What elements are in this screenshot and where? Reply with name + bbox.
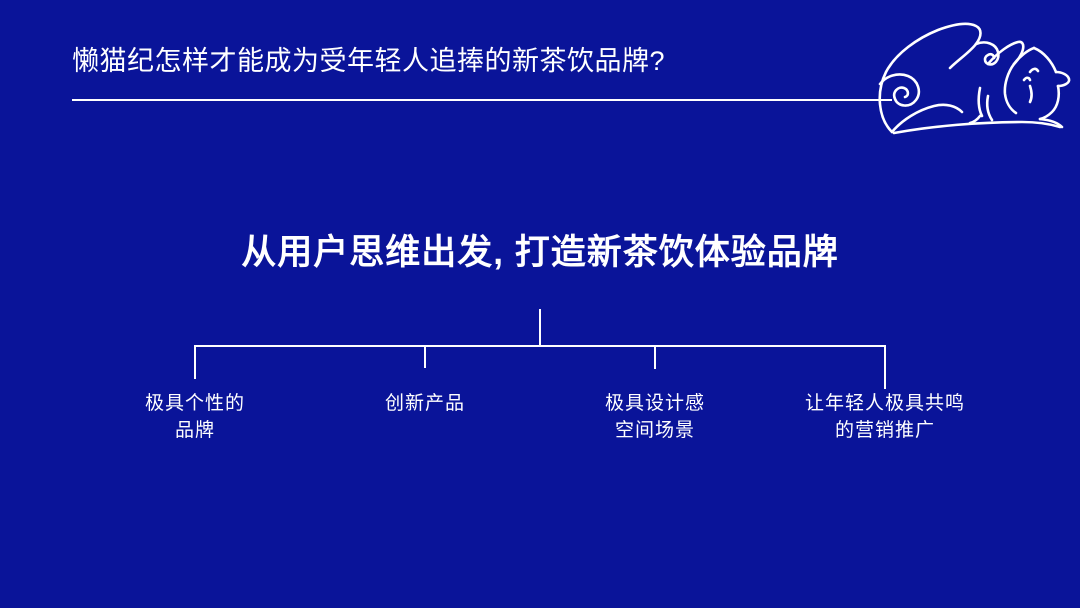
slide-header: 懒猫纪怎样才能成为受年轻人追捧的新茶饮品牌?	[0, 0, 1080, 140]
sleeping-cat-logo	[872, 14, 1072, 140]
connector-drop-2	[424, 345, 426, 368]
tree-connector-lines	[0, 300, 1080, 400]
slide-canvas: 懒猫纪怎样才能成为受年轻人追捧的新茶饮品牌?	[0, 0, 1080, 608]
branch-label-1: 极具个性的 品牌	[95, 390, 295, 444]
branch-label-3: 极具设计感 空间场景	[555, 390, 755, 444]
tree-connector	[0, 300, 1080, 400]
main-heading: 从用户思维出发, 打造新茶饮体验品牌	[0, 230, 1080, 276]
sleeping-cat-icon	[872, 14, 1072, 140]
branch-label-group: 极具个性的 品牌 创新产品 极具设计感 空间场景 让年轻人极具共鸣 的营销推广	[0, 390, 1080, 460]
header-divider	[72, 99, 892, 101]
branch-label-4: 让年轻人极具共鸣 的营销推广	[775, 390, 995, 444]
connector-drop-1	[194, 345, 196, 379]
page-title: 懒猫纪怎样才能成为受年轻人追捧的新茶饮品牌?	[72, 42, 665, 80]
connector-stem	[539, 309, 541, 346]
connector-drop-3	[654, 345, 656, 369]
branch-label-2: 创新产品	[325, 390, 525, 417]
connector-bar	[194, 345, 886, 347]
connector-drop-4	[884, 345, 886, 389]
